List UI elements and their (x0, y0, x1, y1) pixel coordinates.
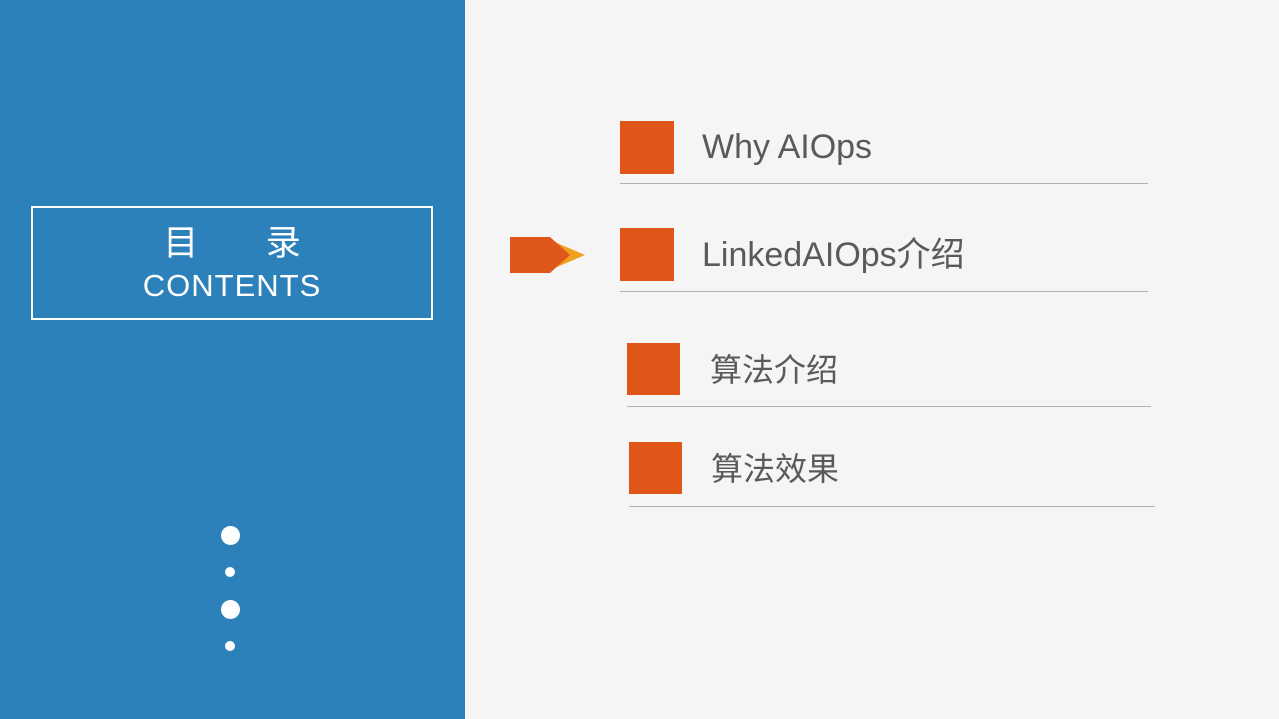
contents-item-label: 算法效果 (711, 448, 839, 490)
bullet-square-icon (620, 228, 674, 281)
contents-item-divider (629, 506, 1155, 507)
contents-list: Why AIOps LinkedAIOps介绍 算法介绍 算法效果 (0, 0, 1279, 719)
contents-item-divider (620, 183, 1148, 184)
bullet-square-icon (627, 343, 680, 395)
contents-item-label: LinkedAIOps介绍 (702, 233, 965, 277)
bullet-square-icon (620, 121, 674, 174)
contents-item-divider (627, 406, 1151, 407)
contents-item-label: Why AIOps (702, 125, 872, 169)
bullet-square-icon (629, 442, 682, 494)
slide-canvas: 目 录 CONTENTS Why AIOps LinkedAIOps介绍 (0, 0, 1279, 719)
contents-item-label: 算法介绍 (710, 349, 838, 391)
contents-item-divider (620, 291, 1148, 292)
